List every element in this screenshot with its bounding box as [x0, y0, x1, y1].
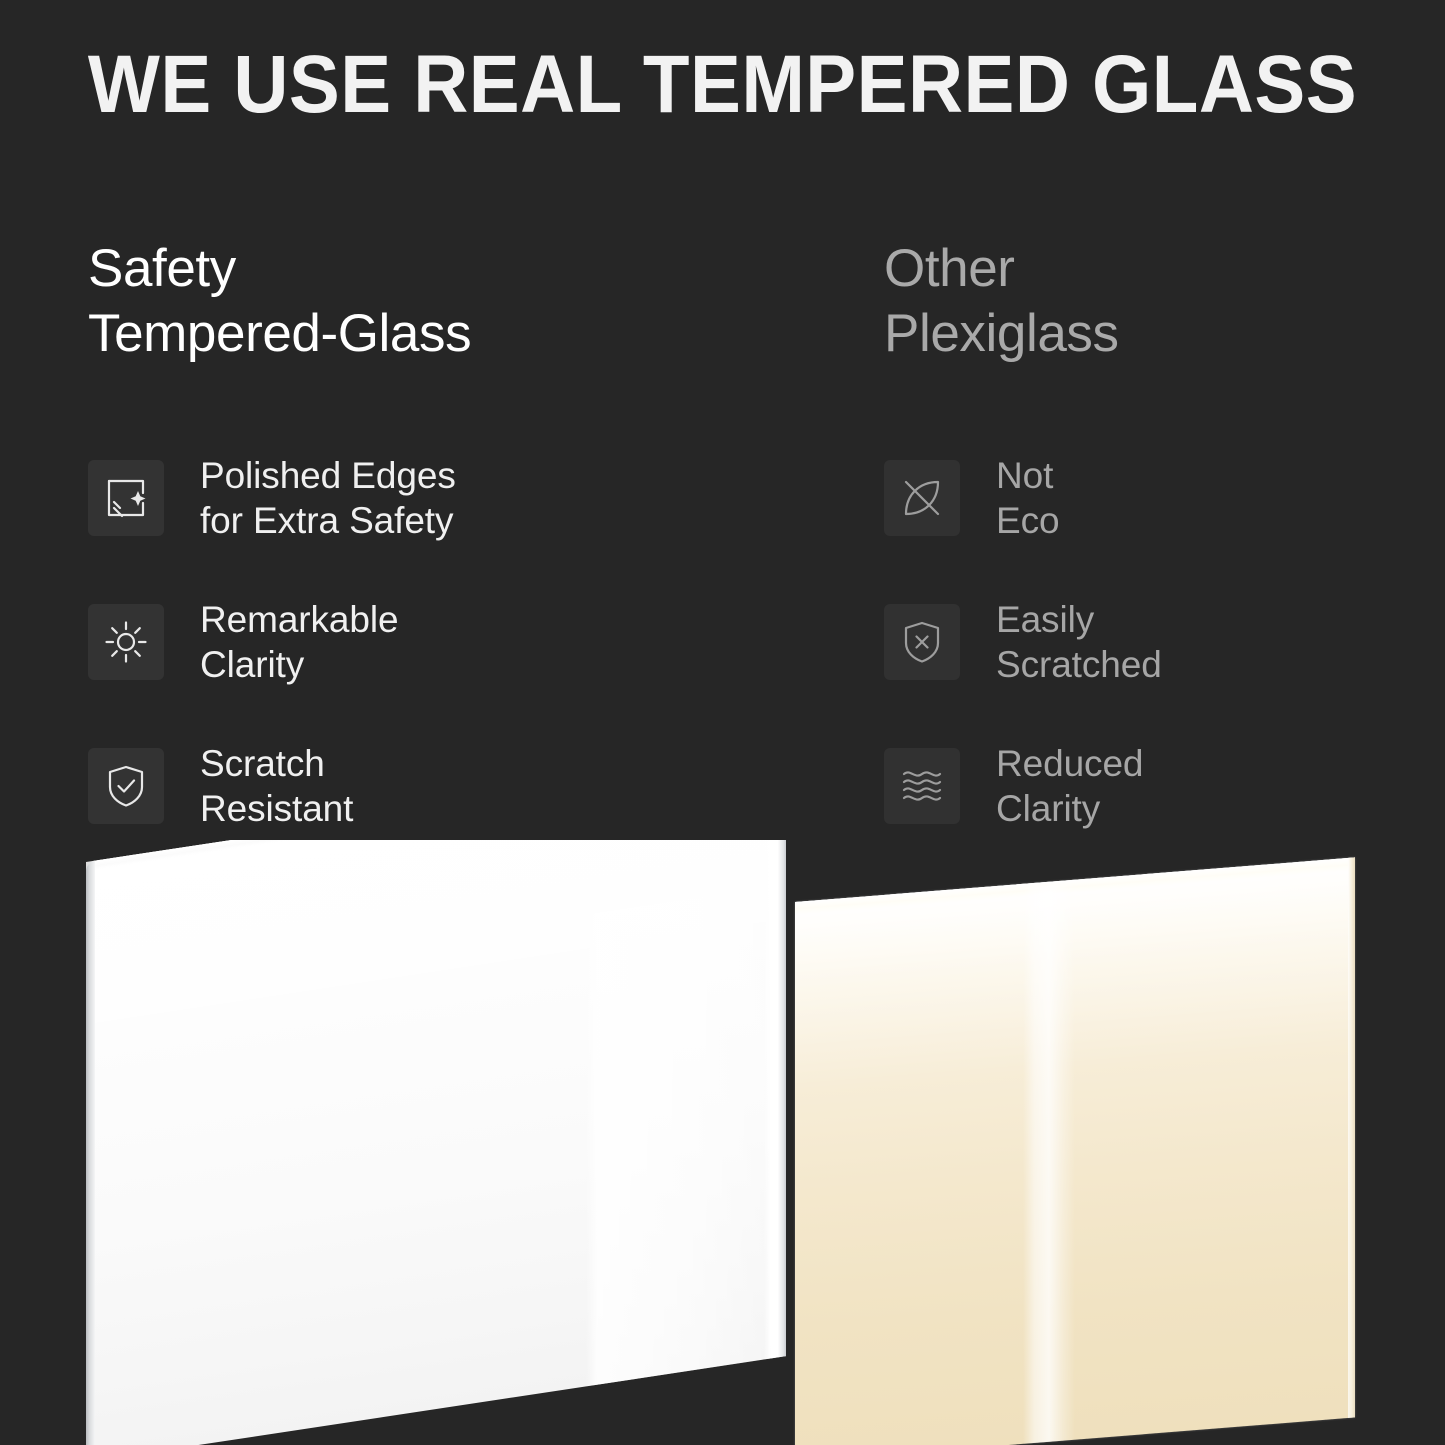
- sun-brightness-icon: [88, 604, 164, 680]
- comparison-column-safety-tempered-glass: Safety Tempered-Glass Polished Edges for…: [88, 236, 788, 366]
- shield-check-icon: [88, 748, 164, 824]
- feature-label-not-eco: Not Eco: [996, 453, 1059, 543]
- feature-remarkable-clarity: Remarkable Clarity: [88, 592, 788, 692]
- polished-glass-sparkle-icon: [88, 460, 164, 536]
- feature-easily-scratched: Easily Scratched: [884, 592, 1424, 692]
- tempered-glass-panel-left-bevel: [86, 861, 95, 1445]
- feature-label-polished-edges: Polished Edges for Extra Safety: [200, 453, 456, 543]
- comparison-column-other-plexiglass: Other Plexiglass Not Eco: [884, 236, 1424, 366]
- wavy-lines-icon: [884, 748, 960, 824]
- plexiglass-panel-reflection: [1023, 884, 1075, 1444]
- tempered-glass-panel-right-bevel: [764, 840, 786, 1359]
- product-photo-glass-comparison: [0, 840, 1445, 1445]
- plexiglass-panel: [795, 857, 1355, 1445]
- column-heading-other-plexiglass: Other Plexiglass: [884, 236, 1424, 366]
- column-heading-safety-tempered-glass: Safety Tempered-Glass: [88, 236, 788, 366]
- feature-label-remarkable-clarity: Remarkable Clarity: [200, 597, 398, 687]
- leaf-crossed-out-icon: [884, 460, 960, 536]
- feature-list-safety-tempered-glass: Polished Edges for Extra Safety Remarkab…: [88, 448, 788, 880]
- feature-polished-edges: Polished Edges for Extra Safety: [88, 448, 788, 548]
- page-title: WE USE REAL TEMPERED GLASS: [51, 42, 1395, 128]
- feature-not-eco: Not Eco: [884, 448, 1424, 548]
- plexiglass-panel-right-edge: [1348, 857, 1355, 1418]
- feature-list-other-plexiglass: Not Eco Easily Scratched: [884, 448, 1424, 880]
- feature-label-easily-scratched: Easily Scratched: [996, 597, 1162, 687]
- tempered-glass-panel-reflection: [586, 886, 772, 1386]
- feature-reduced-clarity: Reduced Clarity: [884, 736, 1424, 836]
- feature-label-scratch-resistant: Scratch Resistant: [200, 741, 353, 831]
- tempered-glass-panel: [86, 840, 786, 1445]
- feature-scratch-resistant: Scratch Resistant: [88, 736, 788, 836]
- infographic-canvas: WE USE REAL TEMPERED GLASS Safety Temper…: [0, 0, 1445, 1445]
- shield-x-icon: [884, 604, 960, 680]
- feature-label-reduced-clarity: Reduced Clarity: [996, 741, 1143, 831]
